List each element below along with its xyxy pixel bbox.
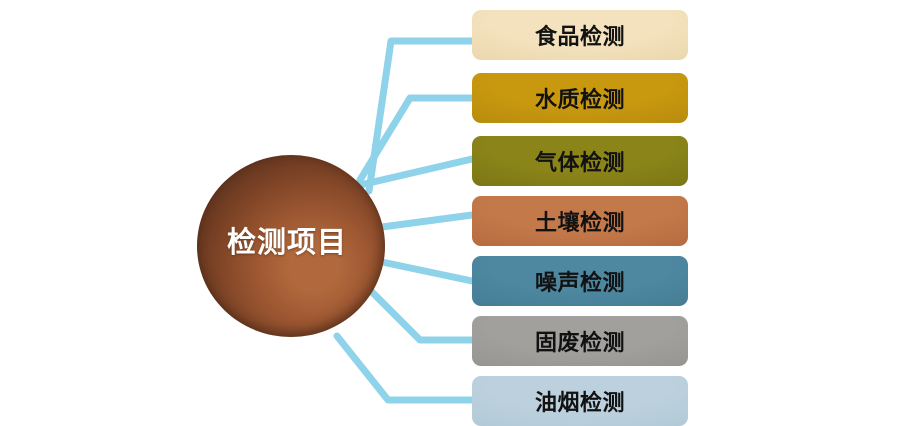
leaf-node-label: 水质检测 bbox=[535, 82, 625, 114]
leaf-node-label: 食品检测 bbox=[535, 19, 625, 51]
leaf-node-label: 土壤检测 bbox=[535, 205, 625, 237]
leaf-node-label: 噪声检测 bbox=[535, 265, 625, 297]
hub-node-detection-projects[interactable]: 检测项目 bbox=[197, 155, 385, 337]
connector-solid-waste-inspection bbox=[370, 290, 472, 340]
connector-oil-fume-inspection bbox=[337, 336, 472, 400]
connector-layer bbox=[0, 0, 900, 426]
leaf-node-label: 油烟检测 bbox=[535, 385, 625, 417]
leaf-node-noise-inspection[interactable]: 噪声检测 bbox=[472, 256, 688, 306]
leaf-node-gas-inspection[interactable]: 气体检测 bbox=[472, 136, 688, 186]
leaf-node-food-inspection[interactable]: 食品检测 bbox=[472, 10, 688, 60]
leaf-node-solid-waste-inspection[interactable]: 固废检测 bbox=[472, 316, 688, 366]
connector-soil-inspection bbox=[382, 215, 472, 227]
connector-food-inspection bbox=[369, 41, 472, 191]
leaf-node-label: 固废检测 bbox=[535, 325, 625, 357]
connector-noise-inspection bbox=[382, 262, 472, 281]
leaf-node-soil-inspection[interactable]: 土壤检测 bbox=[472, 196, 688, 246]
leaf-node-oil-fume-inspection[interactable]: 油烟检测 bbox=[472, 376, 688, 426]
connector-gas-inspection bbox=[356, 159, 472, 186]
leaf-node-water-quality-inspection[interactable]: 水质检测 bbox=[472, 73, 688, 123]
leaf-node-label: 气体检测 bbox=[535, 145, 625, 177]
hub-node-label: 检测项目 bbox=[227, 219, 347, 261]
connector-water-quality-inspection bbox=[360, 98, 472, 180]
diagram-canvas: 检测项目 食品检测 水质检测 气体检测 土壤检测 噪声检测 固废检测 油烟检测 bbox=[0, 0, 900, 426]
